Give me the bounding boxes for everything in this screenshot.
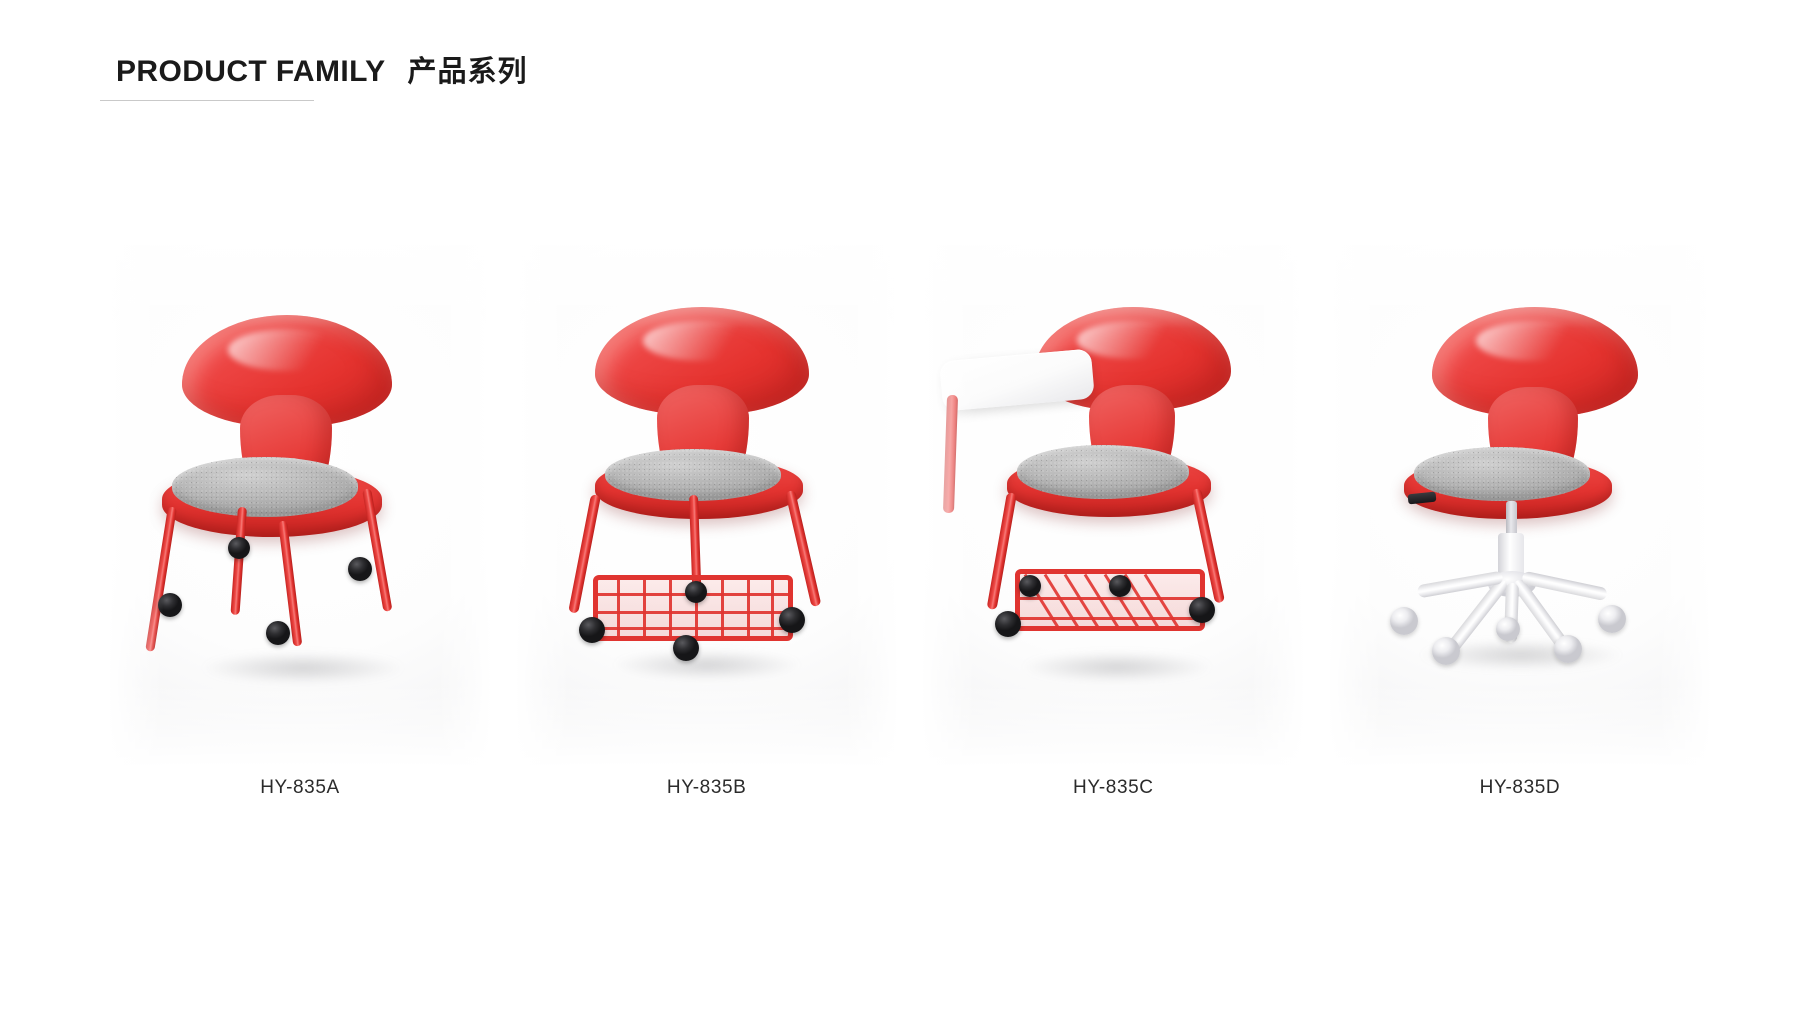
product-card-hy-835b[interactable]: HY-835B bbox=[517, 245, 897, 805]
caster-b-3 bbox=[673, 635, 699, 661]
product-label-hy-835d: HY-835D bbox=[1330, 777, 1710, 799]
chair-illustration-c bbox=[923, 245, 1303, 765]
caster-a-4 bbox=[348, 557, 372, 581]
product-card-hy-835d[interactable]: HY-835D bbox=[1330, 245, 1710, 805]
product-label-hy-835b: HY-835B bbox=[517, 777, 897, 799]
seat-cushion-b bbox=[605, 449, 781, 501]
product-card-hy-835c[interactable]: HY-835C bbox=[923, 245, 1303, 805]
product-photo-hy-835c bbox=[923, 245, 1303, 765]
caster-b-2 bbox=[779, 607, 805, 633]
product-family-page: PRODUCT FAMILY 产品系列 bbox=[0, 0, 1800, 1013]
tablet-arm-post-c bbox=[943, 395, 958, 513]
seat-cushion-c bbox=[1017, 445, 1189, 499]
product-grid: HY-835A bbox=[110, 245, 1710, 805]
page-header: PRODUCT FAMILY 产品系列 bbox=[116, 48, 528, 90]
chair-illustration-a bbox=[110, 245, 490, 765]
product-label-hy-835c: HY-835C bbox=[923, 777, 1303, 799]
product-photo-hy-835a bbox=[110, 245, 490, 765]
page-title-english: PRODUCT FAMILY bbox=[116, 55, 386, 89]
seat-cushion-d bbox=[1414, 447, 1590, 501]
page-title: PRODUCT FAMILY 产品系列 bbox=[116, 48, 528, 90]
caster-b-1 bbox=[579, 617, 605, 643]
chair-leg-front-left-a bbox=[145, 506, 177, 652]
caster-a-3 bbox=[228, 537, 250, 559]
frame-upright-left-c bbox=[987, 492, 1017, 610]
caster-d-4 bbox=[1554, 635, 1582, 663]
caster-d-1 bbox=[1390, 607, 1418, 635]
page-title-chinese: 产品系列 bbox=[408, 48, 528, 90]
caster-c-2 bbox=[1189, 597, 1215, 623]
caster-b-4 bbox=[685, 581, 707, 603]
caster-d-3 bbox=[1432, 637, 1460, 665]
product-card-hy-835a[interactable]: HY-835A bbox=[110, 245, 490, 805]
caster-d-2 bbox=[1598, 605, 1626, 633]
chair-illustration-b bbox=[517, 245, 897, 765]
chair-illustration-d bbox=[1330, 245, 1710, 765]
product-photo-hy-835b bbox=[517, 245, 897, 765]
caster-a-1 bbox=[158, 593, 182, 617]
caster-d-5 bbox=[1496, 617, 1520, 641]
caster-c-1 bbox=[995, 611, 1021, 637]
title-underline-rule bbox=[100, 100, 314, 101]
seat-cushion-a bbox=[172, 457, 358, 517]
product-photo-hy-835d bbox=[1330, 245, 1710, 765]
caster-a-2 bbox=[266, 621, 290, 645]
product-label-hy-835a: HY-835A bbox=[110, 777, 490, 799]
